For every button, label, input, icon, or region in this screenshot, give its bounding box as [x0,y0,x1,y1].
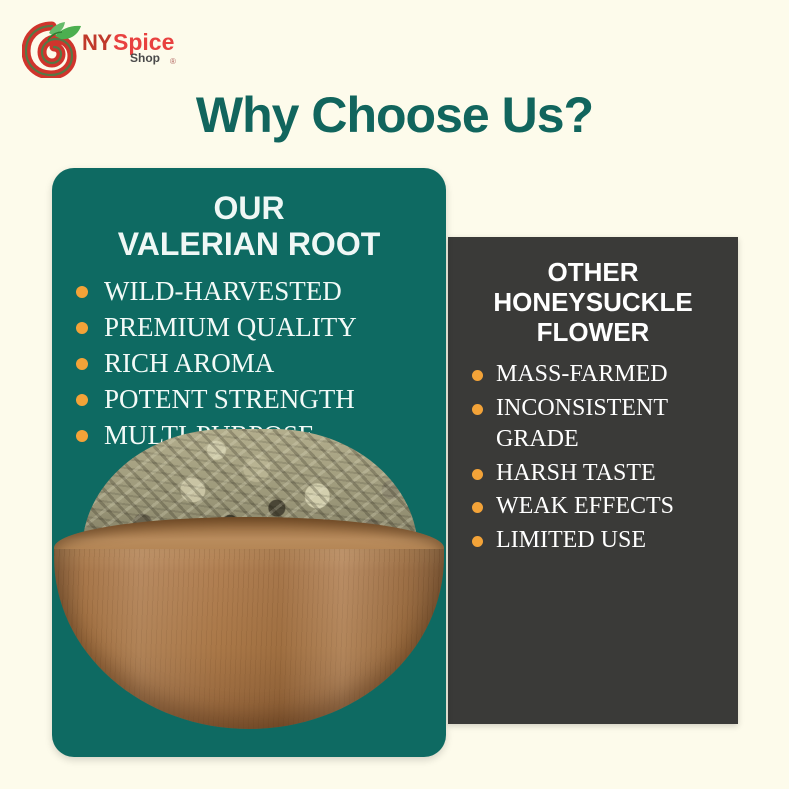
brand-logo[interactable]: NY Spice Shop ® [22,18,212,80]
other-heading-line1: OTHER [548,257,639,287]
registered-trademark-icon: ® [170,57,176,66]
other-heading-line2: HONEYSUCKLE [493,287,692,317]
brand-name-shop: Shop [130,51,160,65]
brand-name-ny: NY [82,30,112,56]
list-item: LIMITED USE [470,525,724,556]
list-item: RICH AROMA [74,346,430,380]
page-title: Why Choose Us? [0,86,789,144]
comparison-card-other: OTHER HONEYSUCKLE FLOWER MASS-FARMED INC… [448,237,738,724]
list-item: POTENT STRENGTH [74,382,430,416]
list-item: WEAK EFFECTS [470,491,724,522]
valerian-root-bowl-photo [52,429,446,729]
other-card-bullet-list: MASS-FARMED INCONSISTENT GRADE HARSH TAS… [462,359,724,556]
other-card-heading: OTHER HONEYSUCKLE FLOWER [462,257,724,347]
ours-card-heading: OUR VALERIAN ROOT [68,190,430,262]
brand-wordmark: NY Spice Shop ® [82,30,212,76]
bowl-body [54,549,444,729]
ours-card-bullet-list: WILD-HARVESTED PREMIUM QUALITY RICH AROM… [68,274,430,452]
list-item: INCONSISTENT GRADE [470,393,724,456]
ours-heading-line2: VALERIAN ROOT [118,226,381,262]
list-item: PREMIUM QUALITY [74,310,430,344]
comparison-card-ours: OUR VALERIAN ROOT WILD-HARVESTED PREMIUM… [52,168,446,757]
list-item: HARSH TASTE [470,458,724,489]
list-item: WILD-HARVESTED [74,274,430,308]
ours-heading-line1: OUR [213,190,284,226]
other-heading-line3: FLOWER [537,317,650,347]
chili-pepper-leaf-logo-icon [22,20,84,78]
list-item: MASS-FARMED [470,359,724,390]
